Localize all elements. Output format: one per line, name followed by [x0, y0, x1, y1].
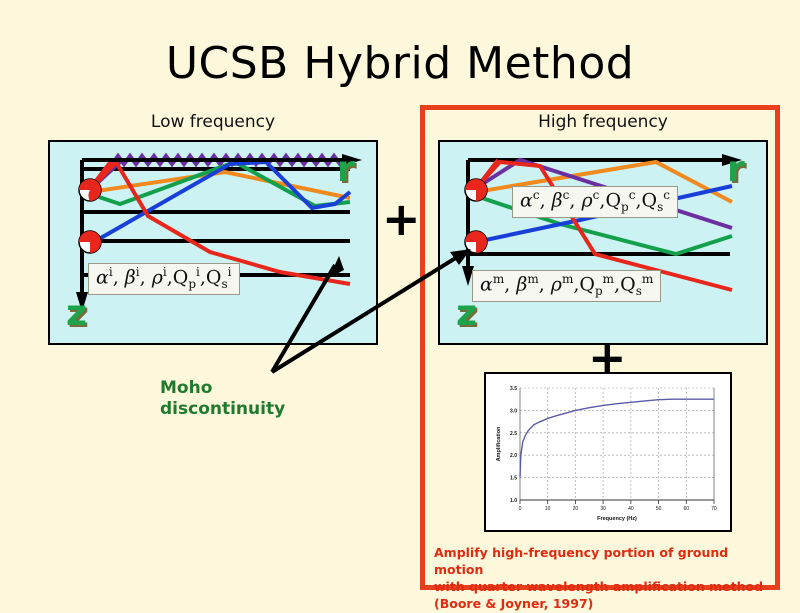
amplification-chart-svg: 0 10 20 30 40 50 60 70 1.0 1.5 2.0 2.5 3…	[486, 374, 730, 530]
chart-xtick-2: 20	[573, 506, 579, 512]
high-panel-r-axis-label: r	[727, 152, 745, 188]
param-alpha: α	[480, 273, 493, 295]
param-qp-subscript: p	[188, 277, 196, 291]
caption-line-2: with quarter wavelength amplification me…	[434, 579, 770, 596]
moho-label-line2: discontinuity	[160, 399, 350, 420]
high-frequency-caption: High frequency	[438, 112, 768, 132]
param-alpha: α	[96, 266, 109, 288]
moho-label-line1: Moho	[160, 378, 350, 399]
chart-ytick-1: 1.5	[510, 476, 517, 482]
chart-xtick-5: 50	[656, 506, 662, 512]
param-alpha: α	[520, 189, 533, 211]
chart-y-axis-label: Amplification	[496, 426, 502, 461]
source-beachball-shallow	[79, 179, 101, 201]
param-qs: Q	[206, 266, 222, 288]
param-qp: Q	[579, 273, 595, 295]
param-rho-superscript: m	[562, 272, 573, 286]
amplification-method-caption: Amplify high-frequency portion of ground…	[434, 545, 770, 613]
param-beta-superscript: m	[527, 272, 538, 286]
high-frequency-raypath-diagram	[440, 142, 768, 345]
crust-parameter-box: αc, βc, ρc,Qpc,Qsc	[512, 186, 678, 218]
chart-xtick-1: 10	[545, 506, 551, 512]
low-frequency-raypath-diagram	[50, 142, 378, 345]
param-qs: Q	[641, 189, 657, 211]
chart-ytick-3: 2.5	[510, 431, 517, 437]
low-panel-z-axis-label: z	[66, 296, 87, 332]
param-qp-superscript: m	[603, 272, 614, 286]
source-beachball-deep	[79, 231, 101, 253]
param-qs-subscript: s	[222, 277, 228, 291]
param-qp-subscript: p	[595, 284, 603, 298]
chart-ytick-4: 3.0	[510, 408, 517, 414]
chart-xtick-7: 70	[711, 506, 717, 512]
caption-line-3: (Boore & Joyner, 1997)	[434, 596, 770, 613]
chart-xtick-3: 30	[600, 506, 606, 512]
param-beta: β	[552, 189, 563, 211]
param-qp-subscript: p	[621, 200, 629, 214]
low-frequency-parameter-box: αi, βi, ρi,Qpi,Qsi	[88, 263, 240, 295]
chart-xtick-6: 60	[684, 506, 690, 512]
source-beachball-crust	[465, 179, 487, 201]
chart-xtick-4: 40	[628, 506, 634, 512]
chart-xtick-0: 0	[519, 506, 522, 512]
param-qs-subscript: s	[657, 200, 663, 214]
param-alpha-superscript: m	[493, 272, 504, 286]
low-panel-r-axis-label: r	[337, 152, 355, 188]
source-beachball-moho	[465, 231, 487, 253]
param-rho: ρ	[551, 273, 562, 295]
low-frequency-model-panel	[48, 140, 378, 345]
param-qs-subscript: s	[636, 284, 642, 298]
param-qp: Q	[173, 266, 189, 288]
amplification-chart: 0 10 20 30 40 50 60 70 1.0 1.5 2.0 2.5 3…	[484, 372, 732, 532]
param-beta: β	[125, 266, 136, 288]
param-qs-superscript: i	[228, 265, 232, 279]
page-title: UCSB Hybrid Method	[0, 38, 800, 89]
param-rho: ρ	[581, 189, 592, 211]
chart-x-axis-label: Frequency (Hz)	[597, 516, 637, 522]
param-qp: Q	[605, 189, 621, 211]
param-qs: Q	[620, 273, 636, 295]
slide-canvas: UCSB Hybrid Method Low frequency High fr…	[0, 0, 800, 600]
plus-operator-middle: +	[382, 196, 421, 242]
param-qs-superscript: c	[663, 188, 670, 202]
caption-line-1: Amplify high-frequency portion of ground…	[434, 545, 770, 579]
param-qs-superscript: m	[642, 272, 653, 286]
chart-ytick-0: 1.0	[510, 498, 517, 504]
param-alpha-superscript: c	[533, 188, 540, 202]
moho-discontinuity-label: Moho discontinuity	[160, 378, 350, 421]
chart-ytick-5: 3.5	[510, 386, 517, 392]
mantle-parameter-box: αm, βm, ρm,Qpm,Qsm	[472, 270, 661, 302]
param-beta: β	[516, 273, 527, 295]
param-rho: ρ	[152, 266, 163, 288]
high-frequency-model-panel	[438, 140, 768, 345]
low-frequency-caption: Low frequency	[48, 112, 378, 132]
chart-ytick-2: 2.0	[510, 453, 517, 459]
